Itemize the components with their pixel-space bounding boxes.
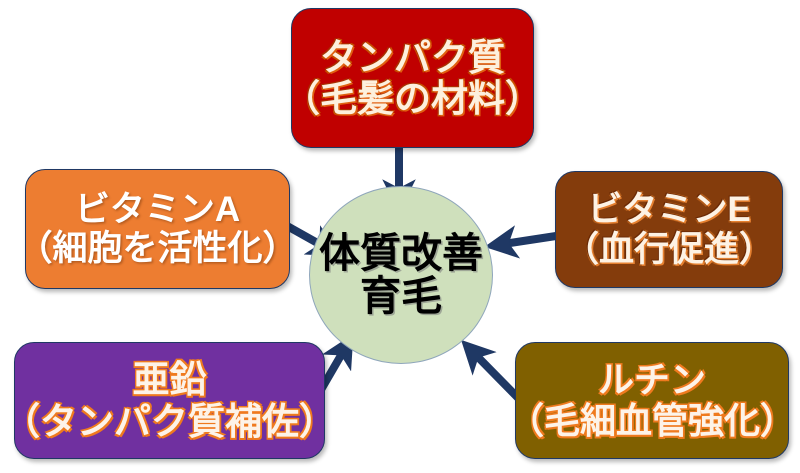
node-protein-subtitle: （毛髪の材料） <box>283 78 542 119</box>
node-protein-title: タンパク質 <box>320 37 505 78</box>
center-label-line2: 育毛 <box>360 275 442 318</box>
node-vitamin-a: ビタミンA （細胞を活性化） <box>25 169 290 289</box>
node-rutin: ルチン （毛細血管強化） <box>515 342 789 459</box>
node-zinc-title: 亜鉛 <box>133 359 207 400</box>
arrow-vitamin-e-to-center <box>497 236 556 245</box>
node-rutin-subtitle: （毛細血管強化） <box>508 401 796 441</box>
node-protein: タンパク質 （毛髪の材料） <box>291 8 534 148</box>
node-zinc-subtitle: （タンパク質補佐） <box>3 401 336 442</box>
node-zinc: 亜鉛 （タンパク質補佐） <box>14 342 325 459</box>
node-vitamin-a-title: ビタミンA <box>75 190 240 229</box>
node-vitamin-e-title: ビタミンE <box>587 190 750 229</box>
node-vitamin-e-subtitle: （血行促進） <box>564 230 774 269</box>
center-node-goal: 体質改善 育毛 <box>309 186 493 364</box>
node-rutin-title: ルチン <box>598 360 706 400</box>
diagram-canvas: 体質改善 育毛 タンパク質 （毛髪の材料） ビタミンA （細胞を活性化） ビタミ… <box>0 0 800 473</box>
center-label-line1: 体質改善 <box>319 232 483 275</box>
node-vitamin-a-subtitle: （細胞を活性化） <box>18 229 298 268</box>
node-vitamin-e: ビタミンE （血行促進） <box>555 171 783 288</box>
